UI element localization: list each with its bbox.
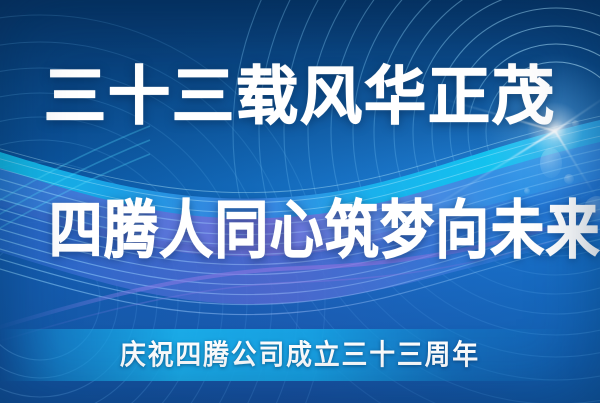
anniversary-banner: 三十三载风华正茂 四腾人同心筑梦向未来 庆祝四腾公司成立三十三周年 bbox=[0, 0, 600, 403]
subtitle-text: 庆祝四腾公司成立三十三周年 bbox=[0, 338, 600, 374]
headline-line-1: 三十三载风华正茂 bbox=[0, 58, 600, 136]
bokeh-circle bbox=[540, 148, 562, 178]
headline-line-2: 四腾人同心筑梦向未来 bbox=[0, 192, 600, 270]
bokeh-circle bbox=[564, 174, 574, 184]
